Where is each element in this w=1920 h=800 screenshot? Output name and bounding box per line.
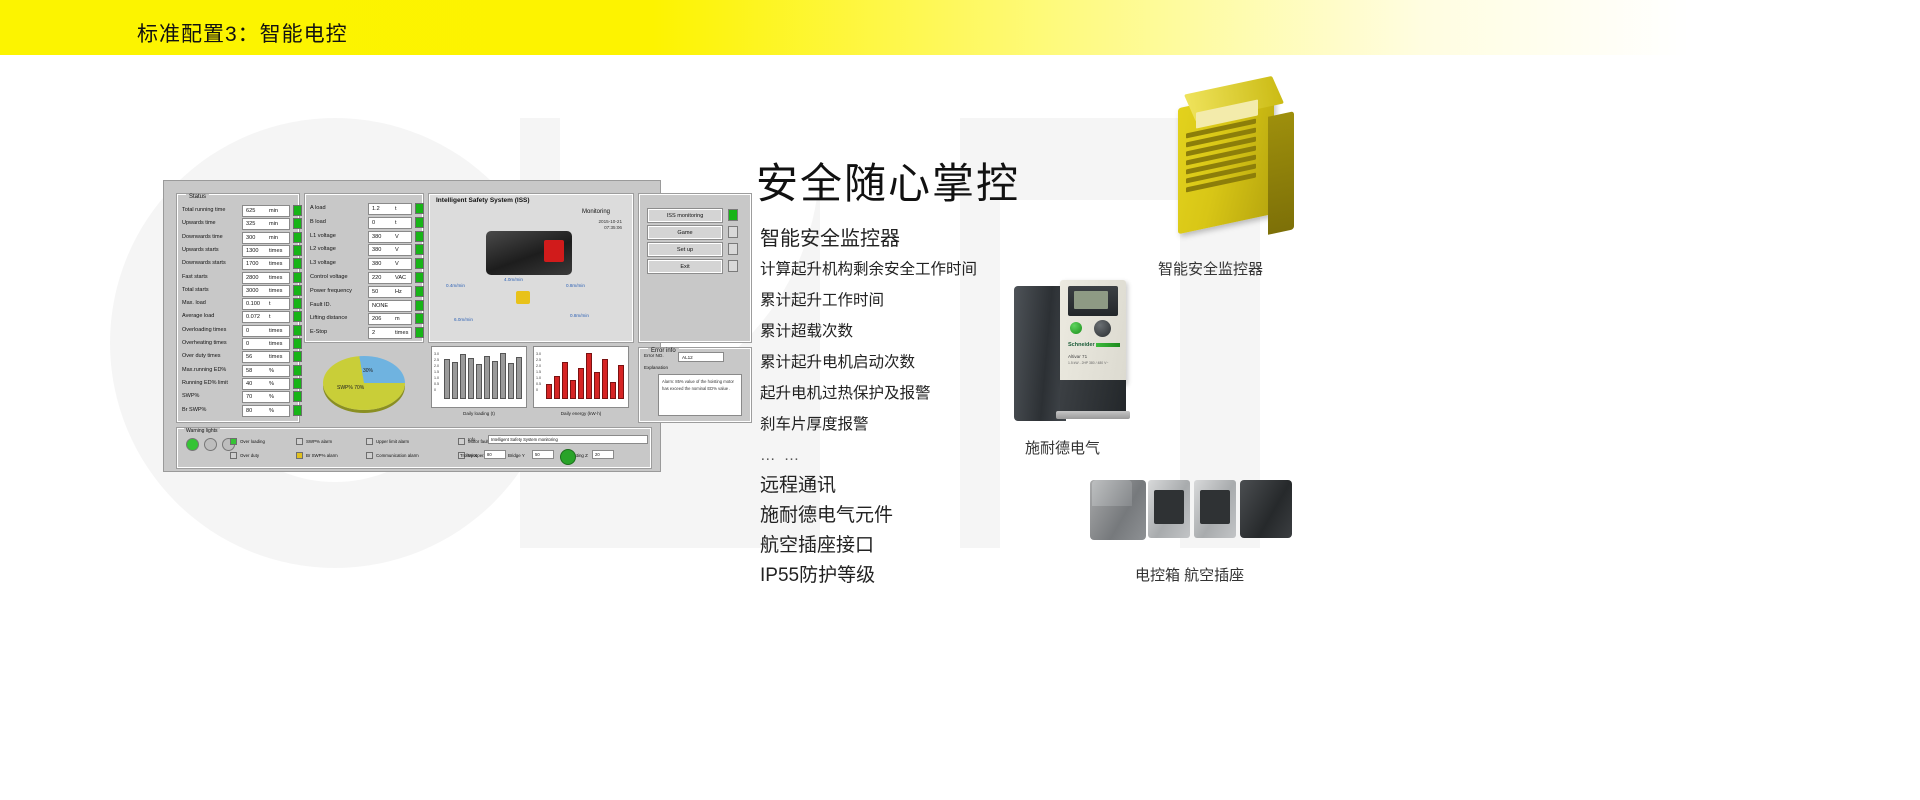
product-safety-relay: [1160, 80, 1305, 240]
iss-measure-row: Fault ID.NONE: [310, 300, 418, 313]
iss-date: 2015-10-21: [599, 219, 623, 224]
iss-measurements-group: A load1.2tB load0tL1 voltage380VL2 volta…: [305, 194, 423, 342]
iss-status-row: Upwards time325min: [182, 218, 294, 231]
iss-status-field[interactable]: 625min: [242, 205, 290, 217]
warning-label: Upper limit alarm: [376, 439, 409, 444]
vfd-display: [1068, 286, 1118, 316]
iss-measure-row: L3 voltage380V: [310, 258, 418, 271]
iss-button[interactable]: Game: [648, 226, 722, 239]
iss-warning-group-title: Warning lights: [184, 428, 220, 434]
iss-status-label: Total running time: [182, 207, 225, 213]
feature-ellipsis: … …: [760, 440, 1180, 471]
error-explanation-label: Explanation: [644, 365, 668, 370]
chart-bar: [452, 362, 458, 399]
hoist-illustration: [486, 231, 572, 275]
warning-counter-value[interactable]: 50: [532, 450, 554, 459]
lamp-green: [186, 438, 199, 451]
iss-status-row: Downwards starts1700times: [182, 258, 294, 271]
caption-connectors: 电控箱 航空插座: [1135, 564, 1244, 585]
warning-label: Over duty: [240, 453, 259, 458]
iss-warning-group: Warning lights Over loadingSWP% alarmUpp…: [177, 428, 651, 468]
iss-measure-led: [415, 286, 424, 297]
iss-measure-row: Control voltage220VAC: [310, 272, 418, 285]
chart-bar: [618, 365, 624, 399]
chart-bar: [610, 382, 616, 399]
iss-status-row: Max. load0.100t: [182, 298, 294, 311]
iss-measure-field[interactable]: 2times: [368, 327, 412, 339]
iss-status-field[interactable]: 2800times: [242, 272, 290, 284]
chart-bar: [570, 380, 576, 399]
iss-measure-led: [415, 217, 424, 228]
iss-status-led: [293, 325, 302, 336]
vfd-lower-cover: [1060, 380, 1126, 414]
iss-pie-chart: 30% SWP% 70%: [311, 352, 417, 414]
chart-bar: [444, 359, 450, 399]
iss-status-led: [293, 311, 302, 322]
iss-status-led: [293, 351, 302, 362]
iss-measure-row: B load0t: [310, 217, 418, 230]
iss-status-label: Max.running ED%: [182, 367, 226, 373]
vfd-rating: 1.5 kW - 2HP 380 / 480 V~: [1068, 361, 1108, 365]
iss-status-field[interactable]: 3000times: [242, 285, 290, 297]
iss-status-led: [293, 378, 302, 389]
iss-measure-led: [415, 258, 424, 269]
iss-button[interactable]: Set up: [648, 243, 722, 256]
pie-label-ed: 30%: [363, 368, 373, 374]
iss-status-row: Total running time625min: [182, 205, 294, 218]
warning-indicator: [366, 452, 373, 459]
chart-daily-loading: 3.02.52.01.51.00.50 Daily loading (t): [431, 346, 527, 408]
caption-safety-relay: 智能安全监控器: [1158, 258, 1263, 279]
iss-status-label: Average load: [182, 313, 214, 319]
warning-indicator: [230, 438, 237, 445]
chart-bar: [516, 357, 522, 399]
iss-status-led: [293, 232, 302, 243]
speed-arrow-5: 0.8m/min: [570, 313, 589, 318]
speed-arrow-3: 0.8m/min: [566, 283, 585, 288]
iss-status-field[interactable]: 58%: [242, 365, 290, 377]
iss-illustration-group: Intelligent Safety System (ISS) Monitori…: [429, 194, 633, 342]
iss-status-label: Upwards starts: [182, 247, 219, 253]
warning-info-value: Intelligent Safety System monitoring: [488, 435, 648, 444]
speed-arrow-1: 0.4m/min: [446, 283, 465, 288]
iss-status-led: [293, 405, 302, 416]
iss-measure-label: Lifting distance: [310, 315, 347, 321]
iss-measure-field[interactable]: 206m: [368, 313, 412, 325]
iss-error-group: Error info Error NO. AL12 Explanation Al…: [639, 348, 751, 422]
iss-measure-label: Power frequency: [310, 288, 352, 294]
warning-knob[interactable]: [560, 449, 576, 465]
vfd-model: Altivar 71: [1068, 354, 1087, 359]
iss-status-row: Downwards time300min: [182, 232, 294, 245]
iss-measure-row: A load1.2t: [310, 203, 418, 216]
error-explanation-text: Alarm: 85% value of the hoisting motor h…: [658, 374, 742, 416]
iss-status-field[interactable]: 325min: [242, 218, 290, 230]
iss-status-label: Downwards starts: [182, 260, 226, 266]
iss-measure-field[interactable]: 380V: [368, 258, 412, 270]
chart-bar: [594, 372, 600, 399]
iss-measure-led: [415, 272, 424, 283]
page-header: 标准配置3：智能电控: [0, 0, 1920, 55]
iss-measure-led: [415, 313, 424, 324]
vfd-brand-bar: [1096, 343, 1120, 347]
iss-status-label: SWP%: [182, 393, 199, 399]
iss-status-field[interactable]: 80%: [242, 405, 290, 417]
iss-status-row: SWP%70%: [182, 391, 294, 404]
iss-measure-led: [415, 231, 424, 242]
error-no-label: Error NO.: [644, 353, 664, 358]
iss-status-led: [293, 205, 302, 216]
iss-measure-label: B load: [310, 219, 326, 225]
iss-status-field[interactable]: 0.072t: [242, 311, 290, 323]
warning-label: SWP% alarm: [306, 439, 332, 444]
chart-daily-loading-title: Daily loading (t): [432, 411, 526, 416]
chart-bar: [500, 353, 506, 399]
iss-status-label: Running ED% limit: [182, 380, 228, 386]
iss-status-label: Br SWP%: [182, 407, 206, 413]
iss-status-row: Max.running ED%58%: [182, 365, 294, 378]
iss-status-led: [293, 258, 302, 269]
iss-measure-label: Control voltage: [310, 274, 348, 280]
iss-status-field[interactable]: 1300times: [242, 245, 290, 257]
iss-button-led: [728, 260, 738, 272]
chart-bar: [492, 361, 498, 399]
iss-buttons-group: ISS monitoringGameSet upExit: [639, 194, 751, 342]
iss-status-field[interactable]: 1700times: [242, 258, 290, 270]
iss-status-field[interactable]: 56times: [242, 351, 290, 363]
iss-measure-field[interactable]: 220VAC: [368, 272, 412, 284]
iss-measure-label: L1 voltage: [310, 233, 336, 239]
warning-counter-label: Trolley X: [460, 453, 477, 458]
feature-lead: 智能安全监控器: [760, 222, 1180, 251]
iss-measure-led: [415, 203, 424, 214]
iss-monitoring-label: Monitoring: [582, 209, 610, 215]
iss-measure-label: L2 voltage: [310, 246, 336, 252]
vfd-knob[interactable]: [1094, 320, 1111, 337]
iss-measure-field[interactable]: 380V: [368, 244, 412, 256]
iss-button[interactable]: ISS monitoring: [648, 209, 722, 222]
iss-status-led: [293, 365, 302, 376]
pie-label-swp: SWP% 70%: [337, 385, 364, 391]
iss-measure-field[interactable]: 380V: [368, 231, 412, 243]
iss-status-row: Br SWP%80%: [182, 405, 294, 418]
warning-indicator: [230, 452, 237, 459]
iss-measure-row: Power frequency50Hz: [310, 286, 418, 299]
connector-hood: [1090, 480, 1146, 540]
iss-system-title: Intelligent Safety System (ISS): [436, 197, 530, 204]
iss-panel-image: Status Total running time625minUpwards t…: [163, 180, 661, 472]
vfd-brand: Schneider: [1068, 342, 1095, 348]
iss-status-led: [293, 338, 302, 349]
iss-status-row: Over duty times56times: [182, 351, 294, 364]
iss-status-field[interactable]: 0times: [242, 325, 290, 337]
speed-arrow-2: 4.0m/min: [504, 277, 523, 282]
iss-status-label: Over duty times: [182, 353, 221, 359]
iss-status-row: Overheating times0times: [182, 338, 294, 351]
chart-bar: [554, 376, 560, 399]
iss-status-row: Average load0.072t: [182, 311, 294, 324]
iss-measure-row: E-Stop2times: [310, 327, 418, 340]
iss-status-field[interactable]: 0.100t: [242, 298, 290, 310]
connector-female-insert: [1194, 480, 1236, 538]
iss-measure-field[interactable]: 50Hz: [368, 286, 412, 298]
feature-tail-item: IP55防护等级: [760, 561, 1180, 591]
warning-indicator: [296, 452, 303, 459]
iss-status-led: [293, 391, 302, 402]
chart-bar: [586, 353, 592, 399]
iss-status-label: Total starts: [182, 287, 209, 293]
iss-button-led: [728, 243, 738, 255]
chart-daily-energy: 3.02.52.01.51.00.50 Daily energy (kW·h): [533, 346, 629, 408]
warning-counter-value[interactable]: 80: [484, 450, 506, 459]
chart-bar: [578, 368, 584, 399]
chart-bar: [602, 359, 608, 399]
chart-bar: [476, 364, 482, 399]
iss-charts: 3.02.52.01.51.00.50 Daily loading (t) 3.…: [429, 346, 633, 422]
headline: 安全随心掌控: [756, 150, 1020, 211]
iss-status-led: [293, 298, 302, 309]
warning-indicator: [296, 438, 303, 445]
iss-button-led: [728, 226, 738, 238]
chart-bar: [460, 354, 466, 399]
iss-measure-label: L3 voltage: [310, 260, 336, 266]
vfd-heatsink: [1014, 286, 1066, 421]
warning-info-label: Info.: [468, 437, 477, 442]
iss-measure-field[interactable]: 0t: [368, 217, 412, 229]
iss-status-field[interactable]: 300min: [242, 232, 290, 244]
chart-bar: [468, 358, 474, 399]
iss-status-led: [293, 272, 302, 283]
iss-status-row: Total starts3000times: [182, 285, 294, 298]
iss-measure-row: L1 voltage380V: [310, 231, 418, 244]
iss-status-field[interactable]: 0times: [242, 338, 290, 350]
iss-status-row: Upwards starts1300times: [182, 245, 294, 258]
iss-measure-field[interactable]: 1.2t: [368, 203, 412, 215]
lamp-grey-1: [204, 438, 217, 451]
error-no-value: AL12: [678, 352, 724, 362]
relay-side: [1268, 111, 1294, 235]
chart-y-axis: 3.02.52.01.51.00.50: [434, 351, 439, 393]
chart-bar: [562, 362, 568, 399]
iss-status-row: Fast starts2800times: [182, 272, 294, 285]
connector-male-insert: [1148, 480, 1190, 538]
iss-measure-led: [415, 327, 424, 338]
iss-status-label: Max. load: [182, 300, 206, 306]
warning-label: Br SWP% alarm: [306, 453, 338, 458]
iss-button[interactable]: Exit: [648, 260, 722, 273]
vfd-green-button[interactable]: [1070, 322, 1082, 334]
chart-daily-energy-title: Daily energy (kW·h): [534, 411, 628, 416]
iss-status-field[interactable]: 40%: [242, 378, 290, 390]
iss-status-field[interactable]: 70%: [242, 391, 290, 403]
chart-bar: [546, 384, 552, 399]
chart-bar: [508, 363, 514, 399]
iss-status-label: Downwards time: [182, 234, 223, 240]
iss-measure-led: [415, 300, 424, 311]
iss-button-led: [728, 209, 738, 221]
iss-status-led: [293, 285, 302, 296]
iss-measure-label: E-Stop: [310, 329, 327, 335]
iss-measure-led: [415, 244, 424, 255]
iss-status-led: [293, 245, 302, 256]
warning-counter-label: Bridge Y: [508, 453, 525, 458]
iss-time: 07:35:06: [604, 225, 622, 230]
iss-measure-label: A load: [310, 205, 326, 211]
iss-measure-label: Fault ID.: [310, 302, 331, 308]
chart-bar: [484, 356, 490, 399]
iss-measure-field[interactable]: NONE: [368, 300, 412, 312]
page-title: 标准配置3：智能电控: [137, 18, 348, 48]
iss-status-row: Running ED% limit40%: [182, 378, 294, 391]
hook-illustration: [516, 291, 530, 304]
warning-label: Communication alarm: [376, 453, 419, 458]
iss-status-label: Fast starts: [182, 274, 208, 280]
iss-status-label: Overheating times: [182, 340, 227, 346]
iss-status-led: [293, 218, 302, 229]
warning-indicator: [458, 438, 465, 445]
connector-housing-black: [1240, 480, 1292, 538]
warning-label: Over loading: [240, 439, 265, 444]
product-vfd: Schneider Altivar 71 1.5 kW - 2HP 380 / …: [1010, 280, 1130, 425]
warning-counter-value[interactable]: 20: [592, 450, 614, 459]
iss-status-group-title: Status: [186, 194, 209, 200]
iss-status-row: Overloading times0times: [182, 325, 294, 338]
iss-measure-row: L2 voltage380V: [310, 244, 418, 257]
vfd-terminals: [1056, 411, 1130, 419]
product-connectors: [1090, 480, 1300, 545]
warning-indicator: [366, 438, 373, 445]
iss-status-label: Upwards time: [182, 220, 216, 226]
chart-y-axis: 3.02.52.01.51.00.50: [536, 351, 541, 393]
caption-vfd: 施耐德电气: [1025, 437, 1100, 458]
pie-slices: [323, 356, 405, 410]
speed-arrow-4: 6.0m/min: [454, 317, 473, 322]
iss-status-group: Status Total running time625minUpwards t…: [177, 194, 299, 422]
iss-status-label: Overloading times: [182, 327, 226, 333]
iss-measure-row: Lifting distance206m: [310, 313, 418, 326]
